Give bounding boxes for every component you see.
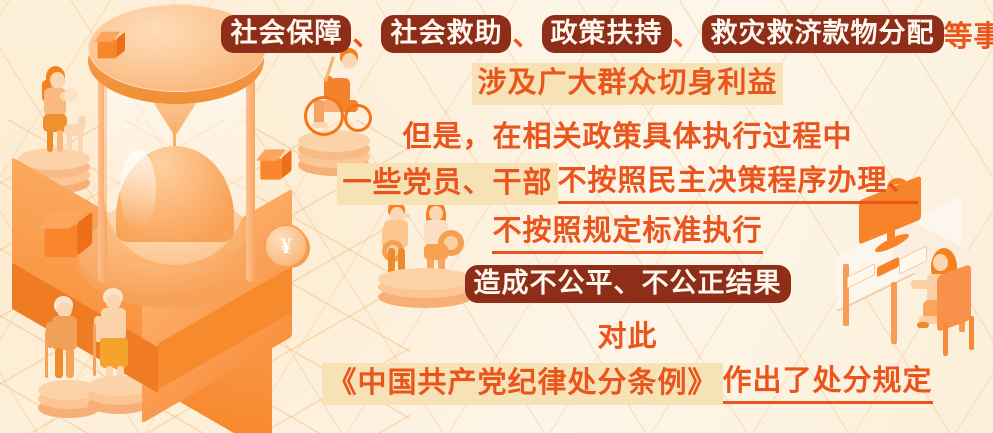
highlight-pill-badge: 政策扶持 [542,15,672,54]
text-separator: 、 [672,14,702,54]
decor-cube-icon [45,225,78,258]
plain-text: 但是，在相关政策具体执行过程中 [402,113,852,155]
poster-line-6: 造成不公平、不公正结果 [465,259,791,309]
underlined-text: 不按照民主决策程序办理、 [558,164,918,204]
highlight-pill-badge: 社会保障 [221,15,351,54]
underlined-text: 不按照规定标准执行 [492,214,762,254]
poster-canvas: ¥ [0,0,993,433]
poster-line-8: 《中国共产党纪律处分条例》作出了处分规定 [322,359,932,409]
highlight-pill-badge: 造成不公平、不公正结果 [465,265,791,304]
plain-text: 等事项 [944,13,993,55]
plain-text: 对此 [597,313,657,355]
figure-elderly-man [44,296,90,382]
hourglass-highlight [120,150,156,228]
poster-line-7: 对此 [597,309,657,359]
highlight-pill-badge: 社会救助 [381,15,511,54]
figure-mother-with-baby [34,66,90,154]
hourglass-post [246,62,255,282]
poster-line-2: 涉及广大群众切身利益 [472,59,782,109]
figure-elderly-woman [92,288,140,380]
highlighted-text: 《中国共产党纪律处分条例》 [322,363,722,405]
highlight-pill-badge: 救灾救济款物分配 [702,15,944,54]
poster-line-1: 社会保障、社会救助、政策扶持、救灾救济款物分配等事项 [221,9,993,59]
poster-line-3: 但是，在相关政策具体执行过程中 [402,109,852,159]
poster-line-4: 一些党员、干部不按照民主决策程序办理、 [337,159,917,209]
text-separator: 、 [511,14,541,54]
highlighted-text: 一些党员、干部 [337,163,557,205]
underlined-text: 作出了处分规定 [723,364,933,404]
text-separator: 、 [351,14,381,54]
decor-cube-icon [98,40,117,59]
highlighted-text: 涉及广大群众切身利益 [472,63,782,105]
poster-line-5: 不按照规定标准执行 [492,209,762,259]
poster-text-block: 社会保障、社会救助、政策扶持、救灾救济款物分配等事项涉及广大群众切身利益但是，在… [262,0,993,433]
